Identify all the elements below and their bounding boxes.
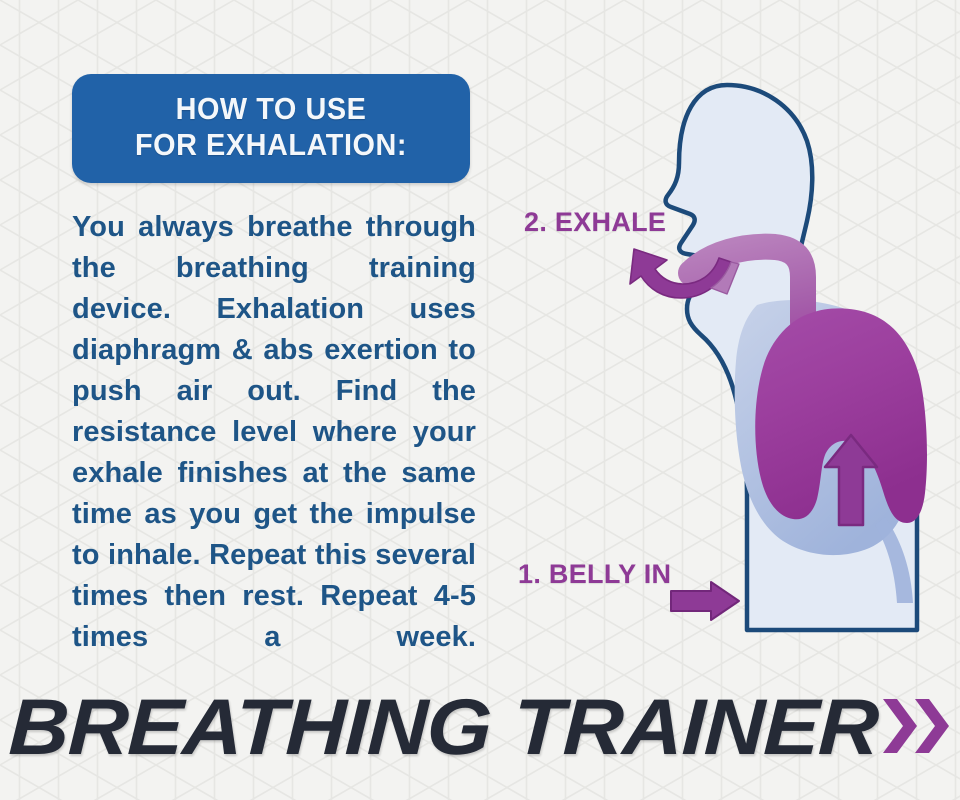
belly-in-arrow (669, 580, 741, 622)
title-line-1: HOW TO USE (95, 91, 447, 127)
exhale-curved-arrow (627, 240, 745, 306)
brand-footer: BREATHING TRAINER (0, 678, 960, 774)
callout-label-exhale: 2. EXHALE (524, 207, 666, 238)
title-line-2: FOR EXHALATION: (95, 127, 447, 163)
brand-name: BREATHING TRAINER (8, 687, 880, 766)
title-banner: HOW TO USE FOR EXHALATION: (72, 74, 470, 183)
callout-label-belly-in: 1. BELLY IN (518, 559, 671, 590)
double-chevron-right-icon (877, 695, 951, 757)
instruction-paragraph: You always breathe through the breathing… (72, 207, 476, 699)
left-content-column: HOW TO USE FOR EXHALATION: You always br… (72, 74, 472, 728)
infographic-canvas: HOW TO USE FOR EXHALATION: You always br… (0, 0, 960, 800)
